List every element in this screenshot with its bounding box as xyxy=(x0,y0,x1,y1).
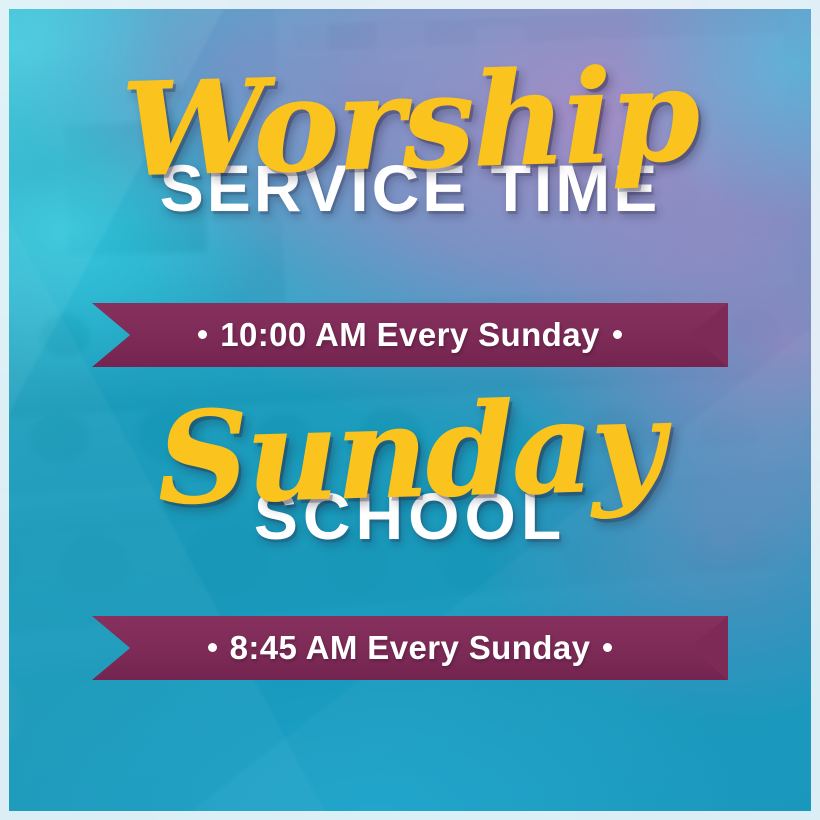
worship-script-heading: Worship xyxy=(0,47,820,200)
poster-canvas: Worship SERVICE TIME 10:00 AM Every Sund… xyxy=(0,0,820,820)
ribbon-shape-sunday: 8:45 AM Every Sunday xyxy=(92,616,728,680)
sunday-time-text: 8:45 AM Every Sunday xyxy=(195,629,626,667)
sunday-school-time-banner: 8:45 AM Every Sunday xyxy=(0,616,820,686)
worship-block: Worship SERVICE TIME xyxy=(0,58,820,221)
poster-content: Worship SERVICE TIME 10:00 AM Every Sund… xyxy=(0,0,820,820)
bullet-dot-right-icon xyxy=(603,643,612,652)
worship-time-text: 10:00 AM Every Sunday xyxy=(185,316,635,354)
sunday-script-heading: Sunday xyxy=(0,377,820,528)
worship-time-value: 10:00 AM Every Sunday xyxy=(220,316,600,353)
bullet-dot-left-icon xyxy=(208,643,217,652)
sunday-school-block: Sunday SCHOOL xyxy=(0,388,820,549)
sunday-time-value: 8:45 AM Every Sunday xyxy=(230,629,591,666)
worship-time-banner: 10:00 AM Every Sunday xyxy=(0,303,820,373)
ribbon-shape-worship: 10:00 AM Every Sunday xyxy=(92,303,728,367)
bullet-dot-left-icon xyxy=(198,330,207,339)
bullet-dot-right-icon xyxy=(613,330,622,339)
